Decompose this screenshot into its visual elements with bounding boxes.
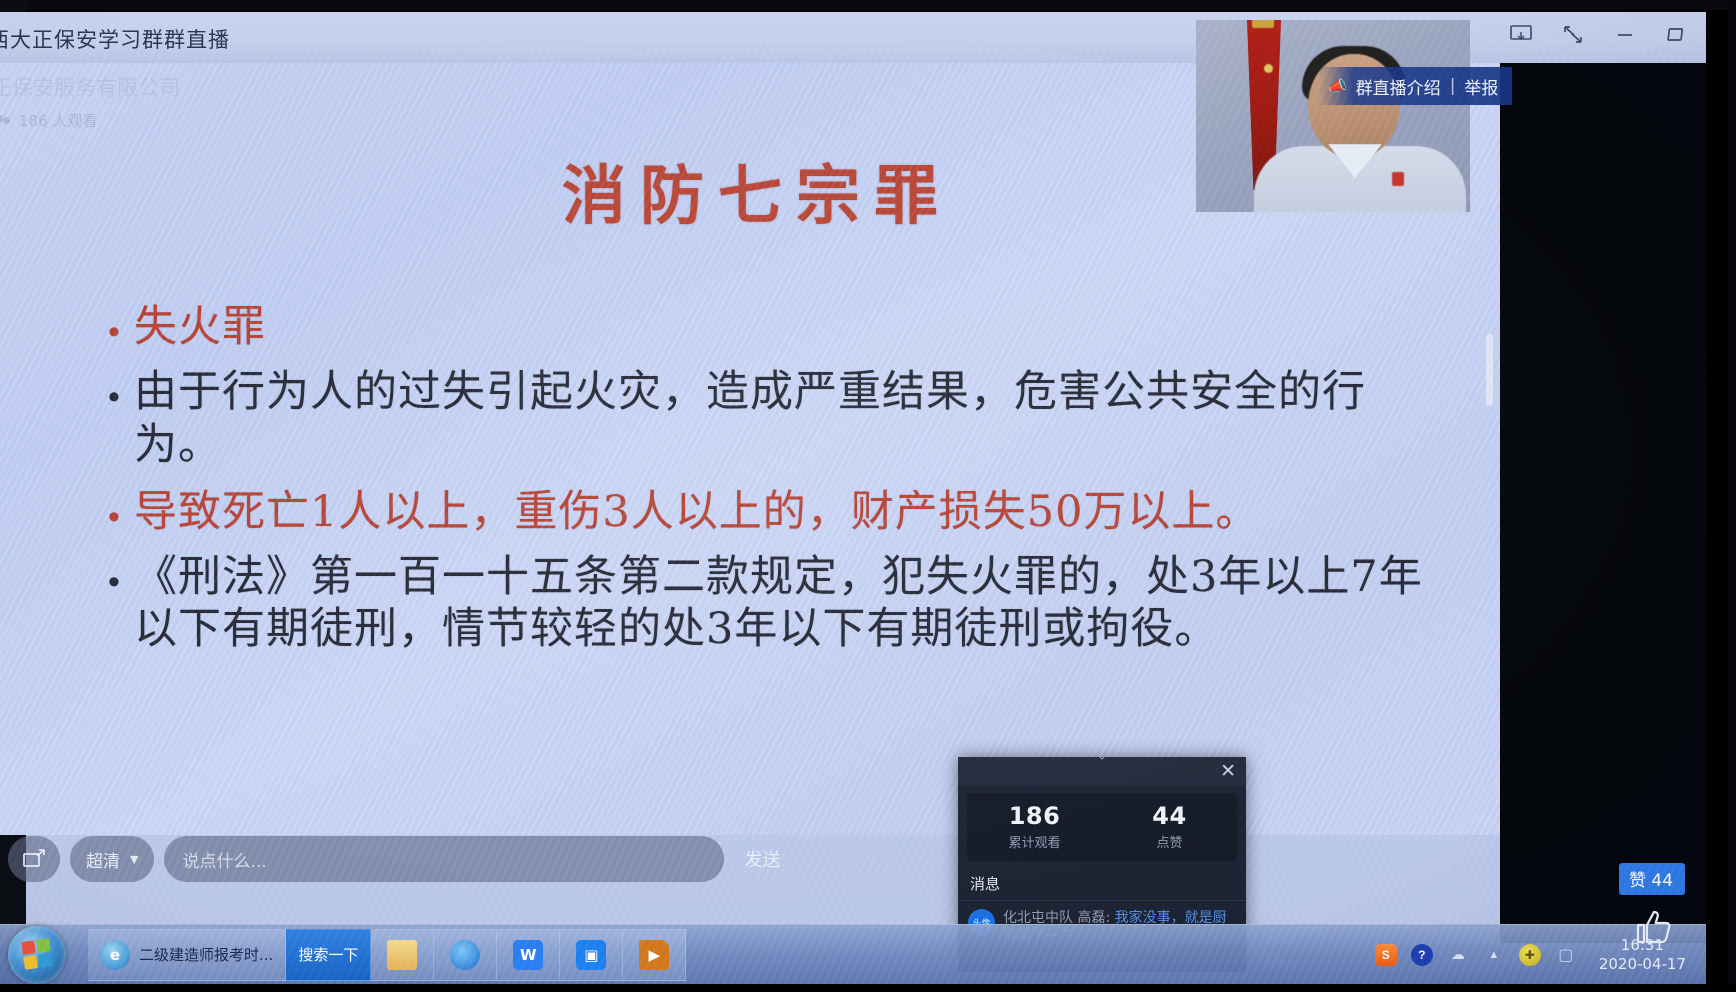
monitor-bezel-top [0, 0, 1736, 10]
bullet-marker: • [108, 301, 134, 349]
bullet-marker: • [108, 486, 134, 534]
taskbar-item-tv[interactable]: ▣ [560, 929, 623, 981]
report-link[interactable]: 举报 [1464, 74, 1498, 99]
viewer-count-label: 186 人观看 [19, 110, 97, 131]
window-title: 西大正保安学习群群直播 [0, 24, 230, 54]
bullet-marker: • [108, 551, 134, 599]
tray-network-icon[interactable]: ▢ [1555, 944, 1577, 966]
monitor-photograph: 西大正保安学习群群直播 [0, 0, 1736, 992]
clock-date: 2020-04-17 [1599, 955, 1686, 974]
ie-icon: e [100, 940, 130, 970]
slide-scrollbar-thumb[interactable] [1486, 334, 1493, 406]
monitor-bezel-right [1728, 0, 1736, 992]
slide-bullet: • 由于行为人的过失引起火灾，造成严重结果，危害公共安全的行为。 [108, 366, 1430, 472]
quality-label: 超清 [86, 847, 120, 872]
taskbar-item-qq[interactable] [434, 929, 497, 981]
flag-star [1264, 64, 1273, 73]
megaphone-icon: 📣 [1328, 77, 1347, 95]
chat-input[interactable]: 说点什么... [164, 836, 724, 882]
tv-icon: ▣ [576, 940, 606, 970]
minimize-icon[interactable] [1610, 20, 1640, 50]
stream-company-name: 大正保安服务有限公司 [0, 72, 180, 102]
tray-help-icon[interactable]: ? [1411, 944, 1433, 966]
bullet-marker: • [108, 366, 134, 414]
live-control-bar: 超清 ▼ 说点什么... 发送 [0, 830, 1500, 888]
presenter-badge [1392, 172, 1404, 186]
chat-input-placeholder: 说点什么... [182, 847, 266, 872]
stream-info-overlay: 大正保安服务有限公司 186 人观看 [0, 72, 180, 131]
windows-taskbar: e 二级建造师报考时... 搜索一下 W ▣ [0, 924, 1706, 984]
bullet-text: 失火罪 [134, 301, 1430, 354]
tray-arrow-icon[interactable]: ▲ [1483, 944, 1505, 966]
folder-icon [387, 940, 417, 970]
bullet-text: 由于行为人的过失引起火灾，造成严重结果，危害公共安全的行为。 [134, 366, 1430, 472]
stat-value: 186 [967, 803, 1102, 829]
tray-cloud-icon[interactable]: ☁ [1447, 944, 1469, 966]
like-count-badge: 赞 44 [1619, 863, 1685, 895]
divider [958, 900, 1246, 901]
slide-bullet: • 导致死亡1人以上，重伤3人以上的，财产损失50万以上。 [108, 486, 1430, 539]
taskbar-item-player[interactable]: ▶ [623, 929, 686, 981]
live-intro-link[interactable]: 群直播介绍 [1356, 74, 1441, 99]
taskbar-item-wps[interactable]: W [497, 929, 560, 981]
tray-shield-icon[interactable]: ✚ [1519, 944, 1541, 966]
meta-separator: | [1450, 76, 1456, 96]
taskbar-item-label: 搜索一下 [298, 944, 358, 965]
screenshot-icon[interactable] [1506, 20, 1536, 50]
taskbar-item-label: 二级建造师报考时... [139, 944, 273, 965]
send-button[interactable]: 发送 [740, 836, 784, 882]
restore-icon[interactable] [1662, 20, 1692, 50]
taskbar-item-explorer[interactable] [371, 929, 434, 981]
thumbs-up-icon[interactable] [1630, 906, 1674, 948]
share-button[interactable] [8, 836, 60, 882]
bullet-text: 导致死亡1人以上，重伤3人以上的，财产损失50万以上。 [134, 486, 1430, 539]
screen-area: 西大正保安学习群群直播 [0, 12, 1706, 984]
slide-body: • 失火罪 • 由于行为人的过失引起火灾，造成严重结果，危害公共安全的行为。 •… [108, 301, 1430, 662]
taskbar-item-ie[interactable]: e 二级建造师报考时... [88, 929, 286, 981]
flag-finial [1252, 20, 1274, 28]
monitor-bezel-bottom [0, 984, 1736, 992]
presenter-video-thumbnail[interactable] [1196, 20, 1470, 212]
chat-panel-header: ⇩ ✕ [958, 757, 1246, 786]
tray-sogou-icon[interactable]: S [1375, 944, 1397, 966]
share-icon [21, 848, 47, 870]
pin-icon[interactable]: ⇩ [1096, 757, 1109, 763]
slide-bullet: • 失火罪 [108, 301, 1430, 354]
viewer-count-row: 186 人观看 [0, 110, 180, 131]
fullscreen-icon[interactable] [1558, 20, 1588, 50]
bullet-text: 《刑法》第一百一十五条第二款规定，犯失火罪的，处3年以上7年以下有期徒刑，情节较… [134, 551, 1430, 657]
taskbar-items: e 二级建造师报考时... 搜索一下 W ▣ [88, 926, 1375, 984]
wps-icon: W [513, 940, 543, 970]
window-controls [1506, 20, 1692, 50]
quality-selector[interactable]: 超清 ▼ [70, 836, 154, 882]
people-icon [0, 114, 12, 128]
slide-bullet: • 《刑法》第一百一十五条第二款规定，犯失火罪的，处3年以上7年以下有期徒刑，情… [108, 551, 1430, 657]
start-button[interactable] [8, 926, 66, 984]
qq-icon [450, 940, 480, 970]
windows-logo-icon [21, 938, 53, 970]
player-icon: ▶ [639, 940, 669, 970]
stat-value: 44 [1102, 803, 1237, 829]
close-icon[interactable]: ✕ [1220, 760, 1236, 782]
live-window-right-letterbox [1500, 63, 1706, 943]
chevron-down-icon: ▼ [130, 853, 138, 866]
taskbar-item-active[interactable]: 搜索一下 [286, 929, 371, 981]
like-control[interactable]: 赞 44 [1604, 863, 1700, 948]
live-meta-bar: 📣 群直播介绍 | 举报 [1318, 67, 1512, 105]
